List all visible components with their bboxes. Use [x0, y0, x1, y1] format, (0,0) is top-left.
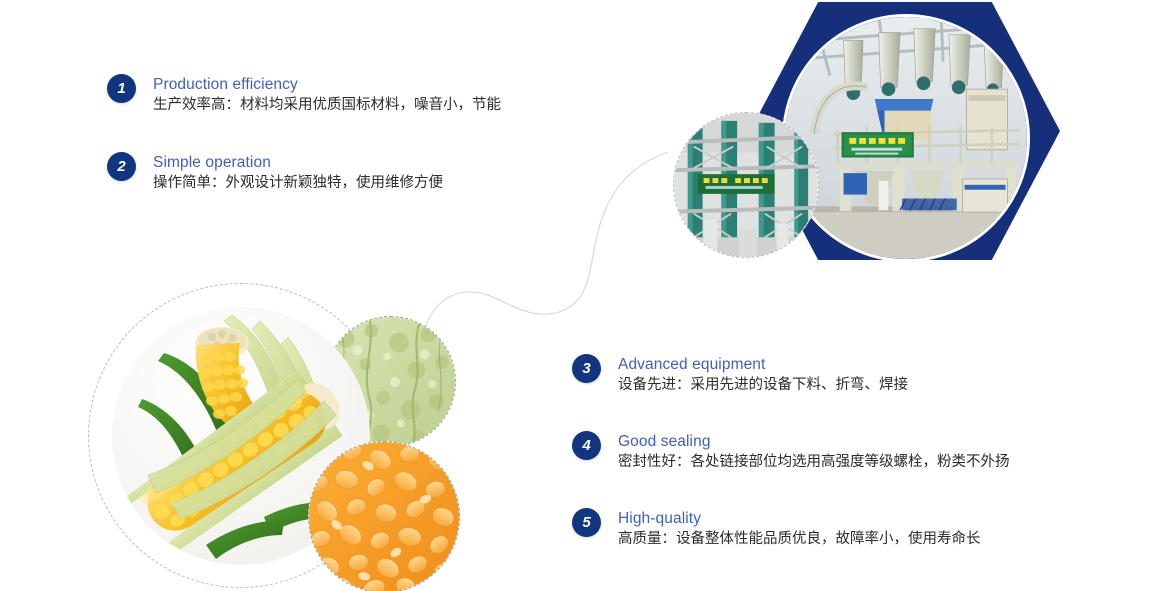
feature-text-2: Simple operation 操作简单：外观设计新颖独特，使用维修方便 [153, 152, 443, 194]
feature-text-5: High-quality 高质量：设备整体性能品质优良，故障率小，使用寿命长 [618, 508, 981, 550]
feature-title-4: Good sealing [618, 432, 1010, 451]
feature-badge-4: 4 [572, 431, 601, 460]
infographic-page: 1 Production efficiency 生产效率高：材料均采用优质国标材… [0, 0, 1154, 591]
feature-item-2[interactable]: 2 Simple operation 操作简单：外观设计新颖独特，使用维修方便 [107, 152, 443, 194]
feature-badge-3: 3 [572, 354, 601, 383]
feature-title-5: High-quality [618, 509, 981, 528]
feature-item-3[interactable]: 3 Advanced equipment 设备先进：采用先进的设备下料、折弯、焊… [572, 354, 908, 396]
hexagon-photo [782, 14, 1030, 262]
corn-grits-photo [308, 441, 460, 591]
feature-desc-4: 密封性好：各处链接部位均选用高强度等级螺栓，粉类不外扬 [618, 452, 1010, 473]
feature-title-1: Production efficiency [153, 75, 501, 94]
feature-title-3: Advanced equipment [618, 355, 908, 374]
feature-text-3: Advanced equipment 设备先进：采用先进的设备下料、折弯、焊接 [618, 354, 908, 396]
feature-text-4: Good sealing 密封性好：各处链接部位均选用高强度等级螺栓，粉类不外扬 [618, 431, 1010, 473]
feature-desc-5: 高质量：设备整体性能品质优良，故障率小，使用寿命长 [618, 529, 981, 550]
feature-badge-2: 2 [107, 152, 136, 181]
feature-desc-3: 设备先进：采用先进的设备下料、折弯、焊接 [618, 375, 908, 396]
feature-desc-1: 生产效率高：材料均采用优质国标材料，噪音小，节能 [153, 95, 501, 116]
feature-title-2: Simple operation [153, 153, 443, 172]
feature-desc-2: 操作简单：外观设计新颖独特，使用维修方便 [153, 173, 443, 194]
feature-text-1: Production efficiency 生产效率高：材料均采用优质国标材料，… [153, 74, 501, 116]
small-photo [673, 112, 819, 258]
feature-badge-1: 1 [107, 74, 136, 103]
feature-item-5[interactable]: 5 High-quality 高质量：设备整体性能品质优良，故障率小，使用寿命长 [572, 508, 981, 550]
feature-item-1[interactable]: 1 Production efficiency 生产效率高：材料均采用优质国标材… [107, 74, 501, 116]
feature-item-4[interactable]: 4 Good sealing 密封性好：各处链接部位均选用高强度等级螺栓，粉类不… [572, 431, 1010, 473]
feature-badge-5: 5 [572, 508, 601, 537]
